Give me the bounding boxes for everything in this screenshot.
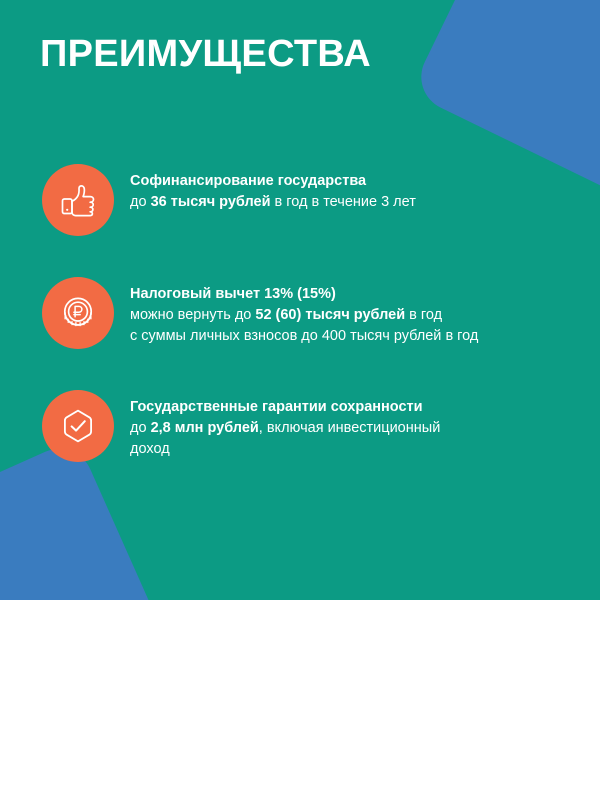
- thumbs-up-icon: [58, 180, 98, 220]
- green-background-panel: ПРЕИМУЩЕСТВА Софинансирование государств…: [0, 0, 600, 600]
- benefit-highlight-value: 2,8 млн рублей: [151, 420, 259, 436]
- benefit-text-block: Налоговый вычет 13% (15%)можно вернуть д…: [130, 284, 560, 347]
- benefit-detail-text: , включая инвестиционный: [259, 420, 441, 436]
- hexagon-check-icon-badge: [42, 390, 114, 462]
- benefit-detail-text: в год в течение 3 лет: [271, 194, 416, 210]
- benefit-detail-text: в год: [405, 307, 442, 323]
- benefit-detail-line: до 2,8 млн рублей, включая инвестиционны…: [130, 418, 560, 439]
- benefit-detail-line: до 36 тысяч рублей в год в течение 3 лет: [130, 192, 560, 213]
- hexagon-check-icon: [58, 406, 98, 446]
- thumbs-up-icon-badge: [42, 164, 114, 236]
- benefit-detail-text: до: [130, 194, 151, 210]
- benefit-detail-line: можно вернуть до 52 (60) тысяч рублей в …: [130, 305, 560, 326]
- page-title: ПРЕИМУЩЕСТВА: [40, 31, 371, 77]
- benefit-detail-text: до: [130, 420, 151, 436]
- benefit-text-block: Государственные гарантии сохранностидо 2…: [130, 397, 560, 460]
- benefit-detail-text: можно вернуть до: [130, 307, 255, 323]
- benefits-list: Софинансирование государствадо 36 тысяч …: [42, 164, 562, 462]
- slide-canvas: ПРЕИМУЩЕСТВА Софинансирование государств…: [0, 0, 600, 800]
- benefit-row: Государственные гарантии сохранностидо 2…: [42, 390, 562, 462]
- benefit-highlight-value: 36 тысяч рублей: [151, 194, 271, 210]
- benefit-row: Налоговый вычет 13% (15%)можно вернуть д…: [42, 277, 562, 349]
- benefit-row: Софинансирование государствадо 36 тысяч …: [42, 164, 562, 236]
- ruble-coin-icon: [58, 293, 98, 333]
- benefit-detail-text: доход: [130, 441, 170, 457]
- benefit-detail-text: с суммы личных взносов до 400 тысяч рубл…: [130, 328, 478, 344]
- benefit-heading: Налоговый вычет 13% (15%): [130, 284, 560, 305]
- benefit-text-block: Софинансирование государствадо 36 тысяч …: [130, 171, 560, 213]
- benefit-heading: Государственные гарантии сохранности: [130, 397, 560, 418]
- benefit-detail-line: с суммы личных взносов до 400 тысяч рубл…: [130, 326, 560, 347]
- benefit-highlight-value: 52 (60) тысяч рублей: [255, 307, 405, 323]
- decorative-blue-square-bottom-left: [0, 438, 178, 600]
- benefit-detail-line: доход: [130, 439, 560, 460]
- benefit-heading: Софинансирование государства: [130, 171, 560, 192]
- ruble-coin-icon-badge: [42, 277, 114, 349]
